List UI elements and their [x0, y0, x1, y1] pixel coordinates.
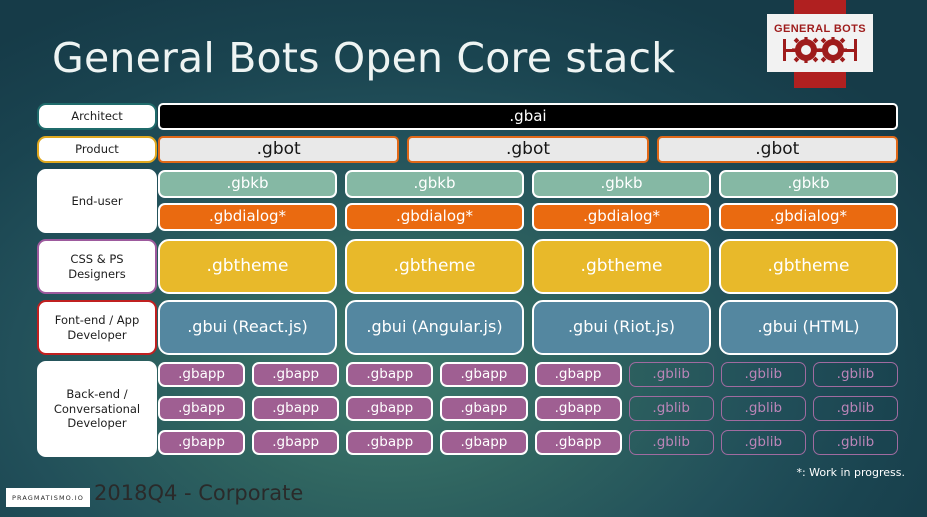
pragmatismo-logo-label: PRAGMATISMO.IO — [12, 494, 84, 502]
sidebar-item-architect[interactable]: Architect — [37, 103, 157, 130]
backend-grid-row: .gbapp .gbapp .gbapp .gbapp .gbapp .gbli… — [158, 396, 898, 421]
stack-diagram: Architect .gbai Product .gbot .gbot .gbo… — [36, 100, 898, 460]
block-gbapp[interactable]: .gbapp — [535, 362, 622, 387]
block-gbdialog[interactable]: .gbdialog* — [158, 203, 337, 231]
row-content-designers: .gbtheme .gbtheme .gbtheme .gbtheme — [158, 236, 898, 297]
block-gbapp[interactable]: .gbapp — [440, 362, 527, 387]
block-gbapp[interactable]: .gbapp — [158, 362, 245, 387]
row-content-end-user: .gbkb .gbkb .gbkb .gbkb .gbdialog* .gbdi… — [158, 166, 898, 236]
stack-row-architect: Architect .gbai — [36, 100, 898, 133]
pragmatismo-logo: PRAGMATISMO.IO — [6, 488, 90, 507]
block-gbtheme[interactable]: .gbtheme — [158, 239, 337, 294]
block-gblib[interactable]: .gblib — [721, 430, 806, 455]
gears-icon — [781, 37, 859, 63]
block-gbot[interactable]: .gbot — [158, 136, 399, 163]
block-gbapp[interactable]: .gbapp — [158, 430, 245, 455]
block-gblib[interactable]: .gblib — [813, 362, 898, 387]
block-gblib[interactable]: .gblib — [813, 396, 898, 421]
row-content-product: .gbot .gbot .gbot — [158, 133, 898, 166]
block-gbot[interactable]: .gbot — [407, 136, 648, 163]
block-gbui[interactable]: .gbui (React.js) — [158, 300, 337, 355]
backend-grid-row: .gbapp .gbapp .gbapp .gbapp .gbapp .gbli… — [158, 362, 898, 387]
block-gbapp[interactable]: .gbapp — [346, 396, 433, 421]
slide-canvas: GENERAL BOTS — [0, 0, 927, 517]
row-label-cell: End-user — [36, 166, 158, 236]
sidebar-item-end-user[interactable]: End-user — [37, 169, 157, 233]
sidebar-item-backend[interactable]: Back-end / Conversational Developer — [37, 361, 157, 457]
logo-label: GENERAL BOTS — [774, 23, 866, 35]
row-label-cell: Architect — [36, 100, 158, 133]
block-gbapp[interactable]: .gbapp — [535, 396, 622, 421]
stack-row-end-user: End-user .gbkb .gbkb .gbkb .gbkb .gbdial… — [36, 166, 898, 236]
block-gbdialog[interactable]: .gbdialog* — [532, 203, 711, 231]
block-gbapp[interactable]: .gbapp — [252, 396, 339, 421]
sidebar-item-designers[interactable]: CSS & PS Designers — [37, 239, 157, 294]
block-gbapp[interactable]: .gbapp — [346, 430, 433, 455]
block-gbui[interactable]: .gbui (Riot.js) — [532, 300, 711, 355]
subrow-gbkb: .gbkb .gbkb .gbkb .gbkb — [158, 170, 898, 198]
block-gblib[interactable]: .gblib — [721, 396, 806, 421]
row-label-cell: CSS & PS Designers — [36, 236, 158, 297]
block-gbkb[interactable]: .gbkb — [532, 170, 711, 198]
block-gblib[interactable]: .gblib — [629, 430, 714, 455]
backend-grid-row: .gbapp .gbapp .gbapp .gbapp .gbapp .gbli… — [158, 430, 898, 455]
block-gbapp[interactable]: .gbapp — [440, 396, 527, 421]
subrow-gbdialog: .gbdialog* .gbdialog* .gbdialog* .gbdial… — [158, 203, 898, 231]
page-title: General Bots Open Core stack — [52, 34, 675, 82]
block-gblib[interactable]: .gblib — [813, 430, 898, 455]
stack-row-designers: CSS & PS Designers .gbtheme .gbtheme .gb… — [36, 236, 898, 297]
block-gbot[interactable]: .gbot — [657, 136, 898, 163]
block-gbai[interactable]: .gbai — [158, 103, 898, 130]
block-gbapp[interactable]: .gbapp — [252, 362, 339, 387]
sidebar-item-frontend[interactable]: Font-end / App Developer — [37, 300, 157, 355]
block-gbapp[interactable]: .gbapp — [440, 430, 527, 455]
stack-row-frontend: Font-end / App Developer .gbui (React.js… — [36, 297, 898, 358]
stack-row-product: Product .gbot .gbot .gbot — [36, 133, 898, 166]
row-label-cell: Back-end / Conversational Developer — [36, 358, 158, 460]
block-gbkb[interactable]: .gbkb — [158, 170, 337, 198]
block-gblib[interactable]: .gblib — [629, 396, 714, 421]
block-gblib[interactable]: .gblib — [629, 362, 714, 387]
general-bots-logo: GENERAL BOTS — [767, 14, 873, 72]
block-gbapp[interactable]: .gbapp — [252, 430, 339, 455]
block-gbtheme[interactable]: .gbtheme — [719, 239, 898, 294]
block-gblib[interactable]: .gblib — [721, 362, 806, 387]
block-gbtheme[interactable]: .gbtheme — [345, 239, 524, 294]
row-content-architect: .gbai — [158, 100, 898, 133]
slide-footer: *: Work in progress. PRAGMATISMO.IO 2018… — [0, 484, 927, 517]
row-content-backend: .gbapp .gbapp .gbapp .gbapp .gbapp .gbli… — [158, 358, 898, 460]
sidebar-item-product[interactable]: Product — [37, 136, 157, 163]
block-gbtheme[interactable]: .gbtheme — [532, 239, 711, 294]
block-gbkb[interactable]: .gbkb — [719, 170, 898, 198]
row-label-cell: Font-end / App Developer — [36, 297, 158, 358]
block-gbapp[interactable]: .gbapp — [158, 396, 245, 421]
block-gbui[interactable]: .gbui (Angular.js) — [345, 300, 524, 355]
block-gbdialog[interactable]: .gbdialog* — [719, 203, 898, 231]
footnote-text: *: Work in progress. — [796, 466, 905, 479]
block-gbkb[interactable]: .gbkb — [345, 170, 524, 198]
block-gbdialog[interactable]: .gbdialog* — [345, 203, 524, 231]
block-gbapp[interactable]: .gbapp — [346, 362, 433, 387]
block-gbui[interactable]: .gbui (HTML) — [719, 300, 898, 355]
footer-label: 2018Q4 - Corporate — [94, 481, 303, 505]
row-content-frontend: .gbui (React.js) .gbui (Angular.js) .gbu… — [158, 297, 898, 358]
block-gbapp[interactable]: .gbapp — [535, 430, 622, 455]
row-label-cell: Product — [36, 133, 158, 166]
stack-row-backend: Back-end / Conversational Developer .gba… — [36, 358, 898, 460]
